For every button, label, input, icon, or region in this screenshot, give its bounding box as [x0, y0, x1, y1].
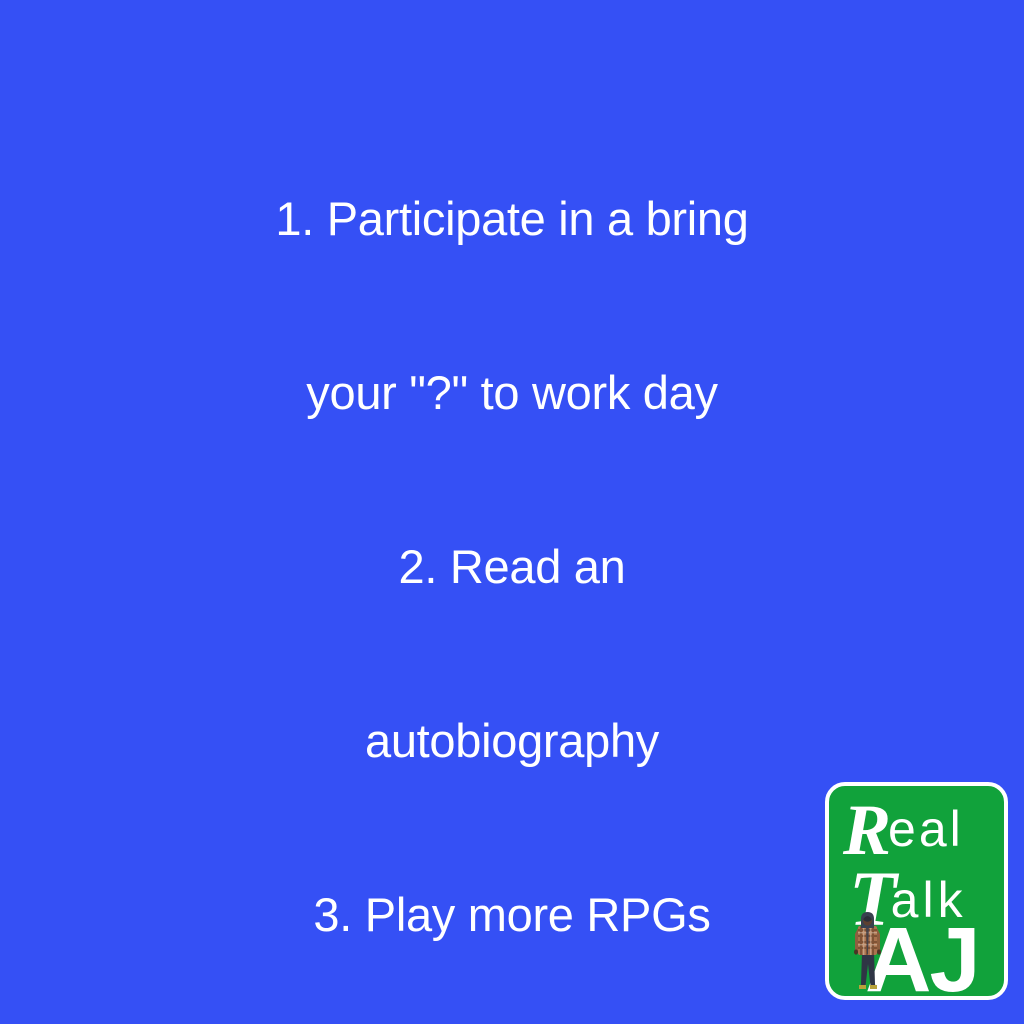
logo-text-eal: eal	[888, 801, 964, 857]
list-line: autobiography	[232, 712, 792, 770]
image-canvas: 1. Participate in a bring your "?" to wo…	[0, 0, 1024, 1024]
person-photo-cutout	[851, 908, 884, 990]
list-line: 2. Read an	[232, 538, 792, 596]
list-line: your "?" to work day	[232, 364, 792, 422]
list-line: 1. Participate in a bring	[232, 190, 792, 248]
channel-logo-badge: Real Talk AJ	[825, 782, 1008, 1000]
list-line: 3. Play more RPGs	[232, 886, 792, 944]
resolution-list-text: 1. Participate in a bring your "?" to wo…	[232, 74, 792, 1024]
